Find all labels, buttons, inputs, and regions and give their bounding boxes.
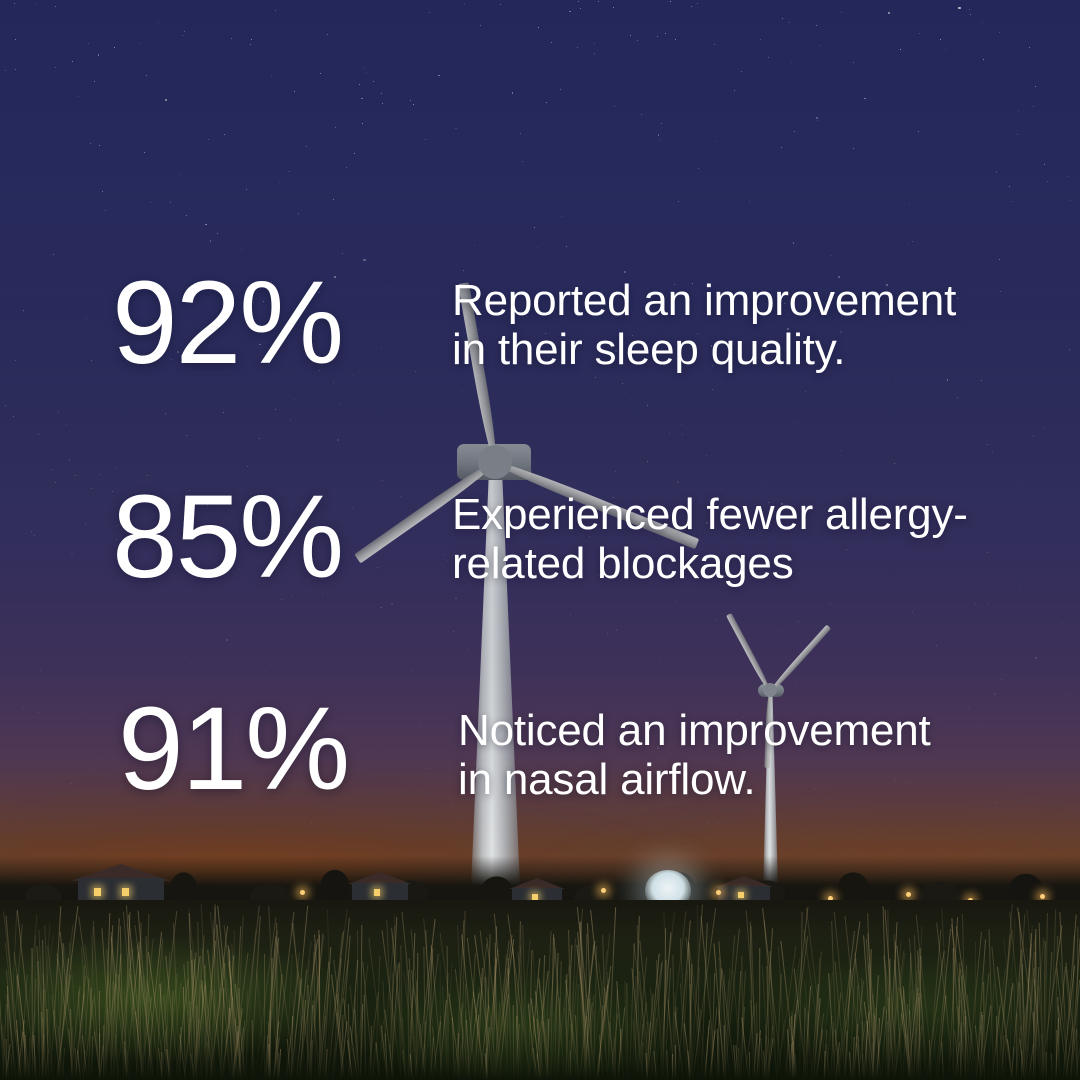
- stat-description: Experienced fewer allergy- related block…: [452, 478, 968, 589]
- stat-description: Noticed an improvement in nasal airflow.: [458, 690, 931, 805]
- turbine-hub: [478, 445, 512, 479]
- stat-percentage: 91%: [118, 690, 458, 808]
- stat-row-sleep-quality: 92% Reported an improvement in their sle…: [112, 264, 956, 382]
- stat-percentage: 92%: [112, 264, 452, 382]
- stat-description: Reported an improvement in their sleep q…: [452, 264, 956, 375]
- grass-blades: [0, 880, 1080, 1080]
- infographic-stage: 92% Reported an improvement in their sle…: [0, 0, 1080, 1080]
- stat-percentage: 85%: [112, 478, 452, 596]
- stat-row-nasal-airflow: 91% Noticed an improvement in nasal airf…: [118, 690, 931, 808]
- stat-row-allergy-blockages: 85% Experienced fewer allergy- related b…: [112, 478, 968, 596]
